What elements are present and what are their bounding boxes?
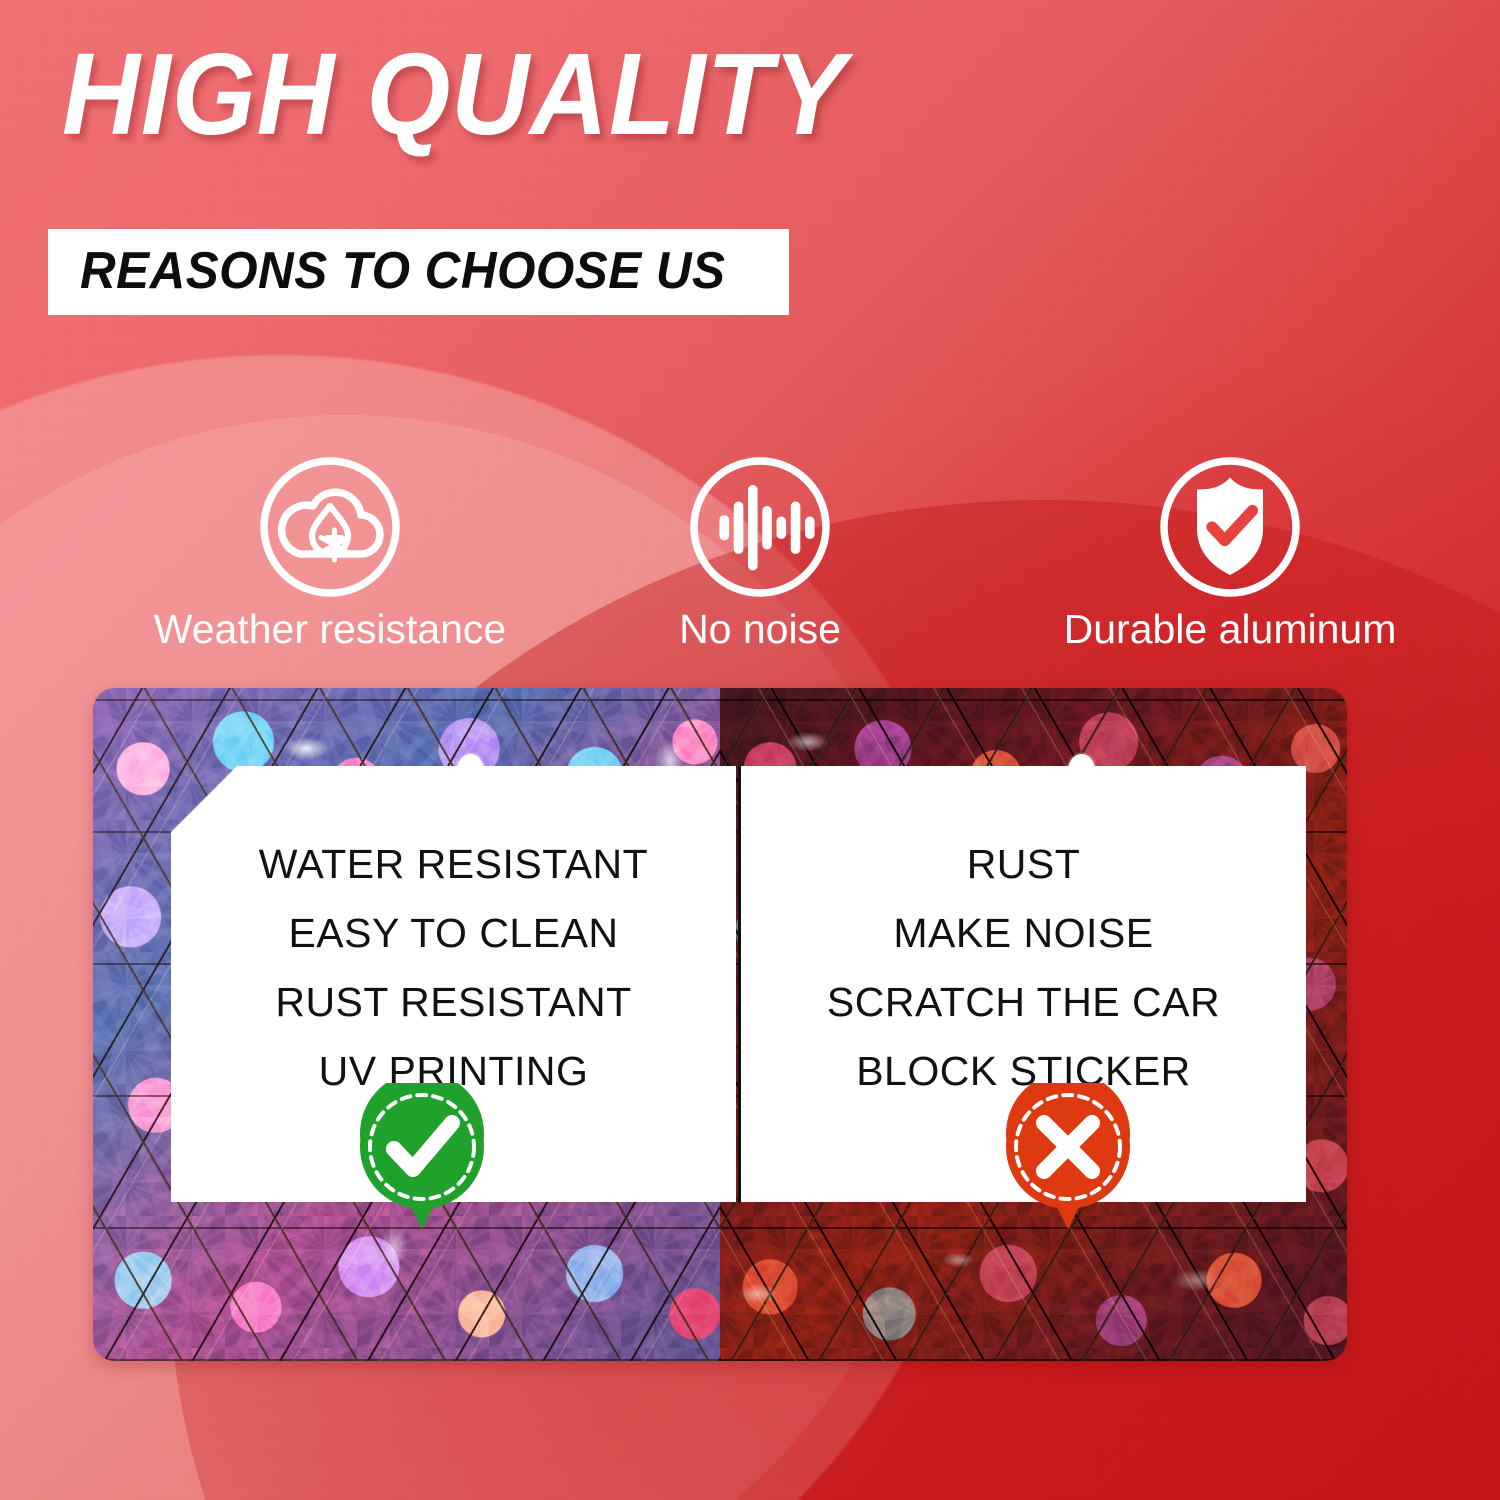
cross-badge-icon — [1000, 1083, 1136, 1229]
feature-item-no-noise: No noise — [595, 452, 925, 651]
feature-label: No noise — [595, 608, 925, 651]
pros-list: WATER RESISTANT EASY TO CLEAN RUST RESIS… — [171, 844, 736, 1120]
cloud-rain-snow-icon — [255, 452, 405, 602]
list-item: RUST RESISTANT — [171, 982, 736, 1023]
list-item: WATER RESISTANT — [171, 844, 736, 885]
feature-list: Weather resistance No noise — [0, 452, 1500, 672]
sound-wave-icon — [685, 452, 835, 602]
license-plate-frame: WATER RESISTANT EASY TO CLEAN RUST RESIS… — [93, 688, 1347, 1361]
subtitle-text: REASONS TO CHOOSE US — [80, 245, 725, 297]
shield-check-icon — [1155, 452, 1305, 602]
list-item: SCRATCH THE CAR — [741, 982, 1306, 1023]
check-badge-icon — [354, 1083, 490, 1229]
page-title: HIGH QUALITY — [62, 36, 846, 152]
panel-divider — [738, 766, 741, 1202]
subtitle-banner: REASONS TO CHOOSE US — [48, 229, 789, 315]
feature-item-weather-resistance: Weather resistance — [110, 452, 550, 651]
list-item: EASY TO CLEAN — [171, 913, 736, 954]
list-item: MAKE NOISE — [741, 913, 1306, 954]
mounting-hole — [1068, 754, 1095, 788]
feature-label: Weather resistance — [110, 608, 550, 651]
cons-list: RUST MAKE NOISE SCRATCH THE CAR BLOCK ST… — [741, 844, 1306, 1120]
feature-label: Durable aluminum — [1010, 608, 1450, 651]
feature-item-durable-aluminum: Durable aluminum — [1010, 452, 1450, 651]
list-item: RUST — [741, 844, 1306, 885]
mounting-hole — [457, 754, 484, 788]
